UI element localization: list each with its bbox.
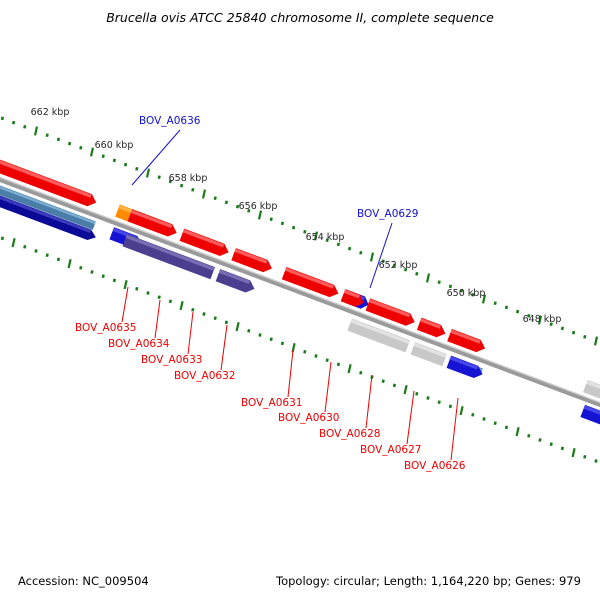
scale-tick-minor	[114, 159, 115, 162]
scale-tick-minor	[69, 142, 70, 145]
scale-tick-minor	[192, 188, 193, 191]
scale-tick-minor	[226, 321, 227, 324]
scale-tick-minor	[103, 275, 104, 278]
scale-tick-minor	[2, 237, 3, 240]
scale-tick-minor	[495, 302, 496, 305]
scale-tick-minor	[148, 291, 149, 294]
scale-tick-minor	[472, 413, 473, 416]
scale-tick-minor	[338, 363, 339, 366]
scale-tick-minor	[92, 270, 93, 273]
gene-label[interactable]: BOV_A0630	[278, 412, 339, 424]
genome-summary-label: Topology: circular; Length: 1,164,220 bp…	[275, 574, 581, 588]
scale-tick-minor	[215, 317, 216, 320]
scale-tick-minor	[428, 396, 429, 399]
gene-label[interactable]: BOV_A0635	[75, 322, 136, 334]
scale-tick-minor	[159, 296, 160, 299]
scale-tick-minor	[58, 138, 59, 141]
gene-label[interactable]: BOV_A0636	[139, 115, 201, 127]
scale-tick-minor	[596, 459, 597, 462]
accession-label: Accession: NC_009504	[18, 574, 149, 588]
scale-tick-minor	[58, 258, 59, 261]
gene-label[interactable]: BOV_A0627	[360, 444, 421, 456]
scale-tick-minor	[271, 218, 272, 221]
scale-tick-minor	[293, 226, 294, 229]
scale-tick-minor	[304, 350, 305, 353]
scale-label: 652 kbp	[379, 260, 418, 271]
scale-label: 650 kbp	[447, 288, 486, 299]
scale-tick-minor	[181, 184, 182, 187]
scale-tick-minor	[24, 125, 25, 128]
scale-tick-minor	[2, 117, 3, 120]
scale-tick-minor	[114, 279, 115, 282]
page-title: Brucella ovis ATCC 25840 chromosome II, …	[106, 10, 494, 25]
scale-tick-minor	[282, 342, 283, 345]
scale-tick-minor	[204, 312, 205, 315]
scale-tick-minor	[439, 401, 440, 404]
scale-tick-minor	[215, 197, 216, 200]
scale-tick-minor	[517, 310, 518, 313]
scale-tick-minor	[125, 163, 126, 166]
scale-label: 654 kbp	[306, 232, 345, 243]
gene-label[interactable]: BOV_A0634	[108, 338, 170, 350]
scale-tick-minor	[528, 434, 529, 437]
scale-tick-minor	[316, 354, 317, 357]
scale-tick-minor	[383, 380, 384, 383]
scale-tick-minor	[136, 167, 137, 170]
scale-tick-minor	[551, 443, 552, 446]
scale-tick-minor	[495, 422, 496, 425]
scale-tick-minor	[260, 333, 261, 336]
scale-label: 656 kbp	[239, 201, 278, 212]
gene-label[interactable]: BOV_A0632	[174, 370, 235, 382]
scale-tick-minor	[248, 329, 249, 332]
scale-tick-minor	[562, 447, 563, 450]
scale-tick-minor	[360, 371, 361, 374]
scale-tick-minor	[47, 134, 48, 137]
canvas-background	[0, 0, 600, 600]
scale-tick-minor	[226, 201, 227, 204]
scale-label: 662 kbp	[31, 107, 70, 118]
scale-tick-minor	[13, 121, 14, 124]
gene-label[interactable]: BOV_A0633	[141, 354, 202, 366]
scale-tick-minor	[349, 247, 350, 250]
scale-label: 648 kbp	[523, 314, 562, 325]
scale-tick-minor	[506, 306, 507, 309]
scale-tick-minor	[80, 266, 81, 269]
scale-tick-minor	[36, 249, 37, 252]
scale-tick-minor	[327, 359, 328, 362]
scale-tick-minor	[271, 338, 272, 341]
scale-tick-minor	[540, 438, 541, 441]
scale-tick-minor	[506, 426, 507, 429]
scale-tick-minor	[484, 417, 485, 420]
scale-tick-minor	[584, 455, 585, 458]
gene-label[interactable]: BOV_A0628	[319, 428, 380, 440]
gene-label[interactable]: BOV_A0626	[404, 460, 466, 472]
scale-tick-minor	[394, 384, 395, 387]
scale-tick-minor	[439, 281, 440, 284]
scale-tick-minor	[282, 222, 283, 225]
scale-tick-minor	[416, 392, 417, 395]
scale-label: 658 kbp	[169, 173, 208, 184]
genome-map-viewer[interactable]: Brucella ovis ATCC 25840 chromosome II, …	[0, 0, 600, 600]
scale-tick-minor	[573, 331, 574, 334]
gene-label[interactable]: BOV_A0629	[357, 208, 418, 220]
scale-tick-minor	[584, 335, 585, 338]
scale-label: 660 kbp	[95, 140, 134, 151]
scale-tick-minor	[24, 245, 25, 248]
scale-tick-minor	[159, 176, 160, 179]
scale-tick-minor	[192, 308, 193, 311]
scale-tick-minor	[338, 243, 339, 246]
scale-tick-minor	[416, 272, 417, 275]
scale-tick-minor	[170, 300, 171, 303]
scale-tick-minor	[80, 146, 81, 149]
gene-label[interactable]: BOV_A0631	[241, 397, 302, 409]
scale-tick-minor	[136, 287, 137, 290]
scale-tick-minor	[47, 254, 48, 257]
scale-tick-minor	[450, 405, 451, 408]
scale-tick-minor	[360, 251, 361, 254]
scale-tick-minor	[562, 327, 563, 330]
scale-tick-minor	[103, 155, 104, 158]
